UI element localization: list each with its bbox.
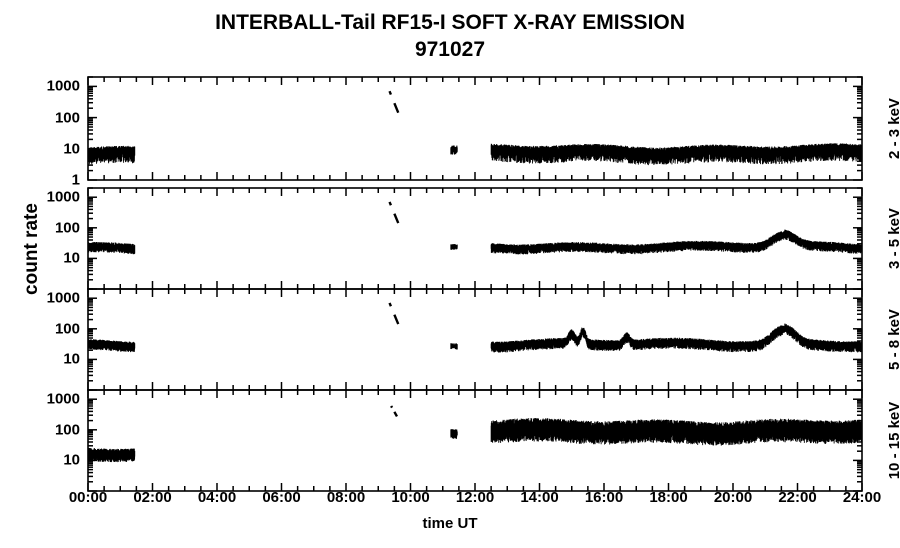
panel-frame	[88, 289, 862, 390]
panel-frame	[88, 77, 862, 180]
y-tick-label: 1000	[0, 391, 80, 408]
x-tick-label: 14:00	[520, 489, 558, 506]
x-tick-label: 08:00	[327, 489, 365, 506]
y-tick-label: 100	[0, 320, 80, 337]
x-tick-label: 00:00	[69, 489, 107, 506]
y-tick-label: 1000	[0, 290, 80, 307]
x-axis-label: time UT	[0, 515, 900, 532]
plot-canvas	[0, 0, 900, 548]
x-tick-label: 04:00	[198, 489, 236, 506]
x-tick-label: 02:00	[133, 489, 171, 506]
y-tick-label: 1	[0, 172, 80, 189]
y-tick-label: 10	[0, 140, 80, 157]
panel-energy-label: 2 - 3 keV	[886, 77, 900, 180]
y-tick-label: 100	[0, 219, 80, 236]
x-tick-label: 18:00	[649, 489, 687, 506]
x-tick-label: 06:00	[262, 489, 300, 506]
data-trace	[88, 202, 862, 254]
x-tick-label: 12:00	[456, 489, 494, 506]
title-line-1: INTERBALL-Tail RF15-I SOFT X-RAY EMISSIO…	[0, 10, 900, 36]
y-tick-label: 10	[0, 250, 80, 267]
data-trace	[88, 91, 862, 165]
x-tick-label: 22:00	[778, 489, 816, 506]
y-tick-label: 100	[0, 421, 80, 438]
y-tick-label: 1000	[0, 78, 80, 95]
title-line-2: 971027	[0, 36, 900, 64]
panel-energy-label: 10 - 15 keV	[886, 390, 900, 491]
panel-frame	[88, 188, 862, 289]
panel-energy-label: 3 - 5 keV	[886, 188, 900, 289]
y-tick-label: 1000	[0, 189, 80, 206]
data-trace	[88, 406, 862, 462]
x-tick-label: 16:00	[585, 489, 623, 506]
xray-emission-figure: INTERBALL-Tail RF15-I SOFT X-RAY EMISSIO…	[0, 0, 900, 548]
y-tick-label: 100	[0, 109, 80, 126]
y-tick-label: 10	[0, 452, 80, 469]
x-tick-label: 20:00	[714, 489, 752, 506]
figure-title: INTERBALL-Tail RF15-I SOFT X-RAY EMISSIO…	[0, 10, 900, 64]
x-tick-label: 10:00	[391, 489, 429, 506]
x-tick-label: 24:00	[843, 489, 881, 506]
y-tick-label: 10	[0, 351, 80, 368]
panel-energy-label: 5 - 8 keV	[886, 289, 900, 390]
data-trace	[88, 303, 862, 353]
